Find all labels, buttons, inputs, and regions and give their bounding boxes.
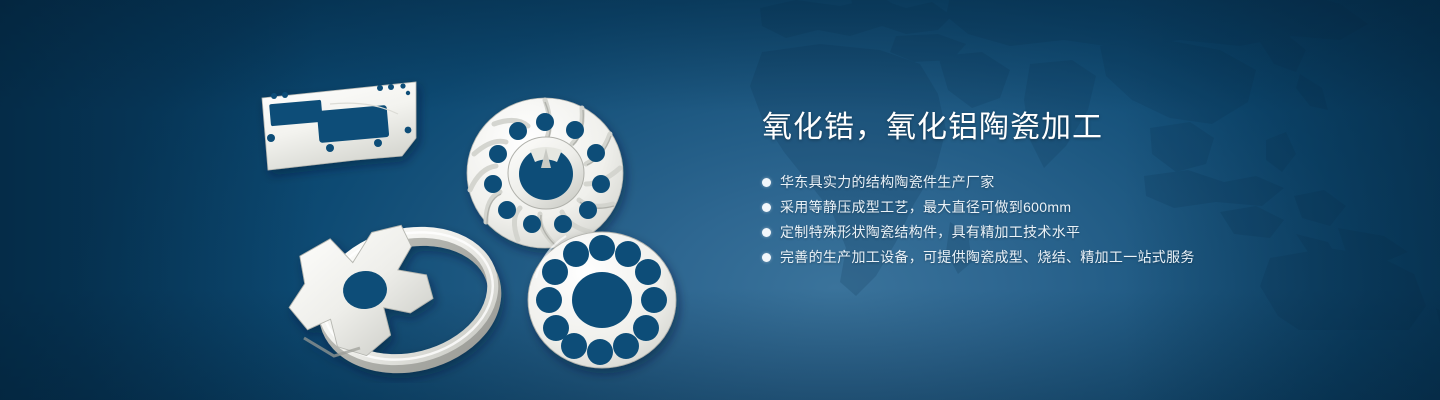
ceramic-impeller-disc [467,98,623,248]
bullet-dot-icon [762,228,771,237]
bullet-dot-icon [762,203,771,212]
page-title: 氧化锆，氧化铝陶瓷加工 [762,108,1382,148]
list-item: 定制特殊形状陶瓷结构件，具有精加工技术水平 [762,220,1382,245]
list-item-label: 完善的生产加工设备，可提供陶瓷成型、烧结、精加工一站式服务 [780,245,1195,270]
ceramic-products-image [230,38,720,383]
list-item-label: 采用等静压成型工艺，最大直径可做到600mm [780,195,1071,220]
list-item: 采用等静压成型工艺，最大直径可做到600mm [762,195,1382,220]
feature-list: 华东具实力的结构陶瓷件生产厂家 采用等静压成型工艺，最大直径可做到600mm 定… [762,170,1382,270]
bullet-dot-icon [762,253,771,262]
hero-banner: 氧化锆，氧化铝陶瓷加工 华东具实力的结构陶瓷件生产厂家 采用等静压成型工艺，最大… [0,0,1440,400]
ceramic-cross-part-and-rings [282,215,509,383]
list-item: 完善的生产加工设备，可提供陶瓷成型、烧结、精加工一站式服务 [762,245,1382,270]
list-item-label: 华东具实力的结构陶瓷件生产厂家 [780,170,995,195]
list-item: 华东具实力的结构陶瓷件生产厂家 [762,170,1382,195]
ceramic-machined-plate [262,82,416,170]
bullet-dot-icon [762,178,771,187]
ceramic-perforated-ring [528,232,676,368]
banner-copy: 氧化锆，氧化铝陶瓷加工 华东具实力的结构陶瓷件生产厂家 采用等静压成型工艺，最大… [762,108,1382,270]
list-item-label: 定制特殊形状陶瓷结构件，具有精加工技术水平 [780,220,1080,245]
